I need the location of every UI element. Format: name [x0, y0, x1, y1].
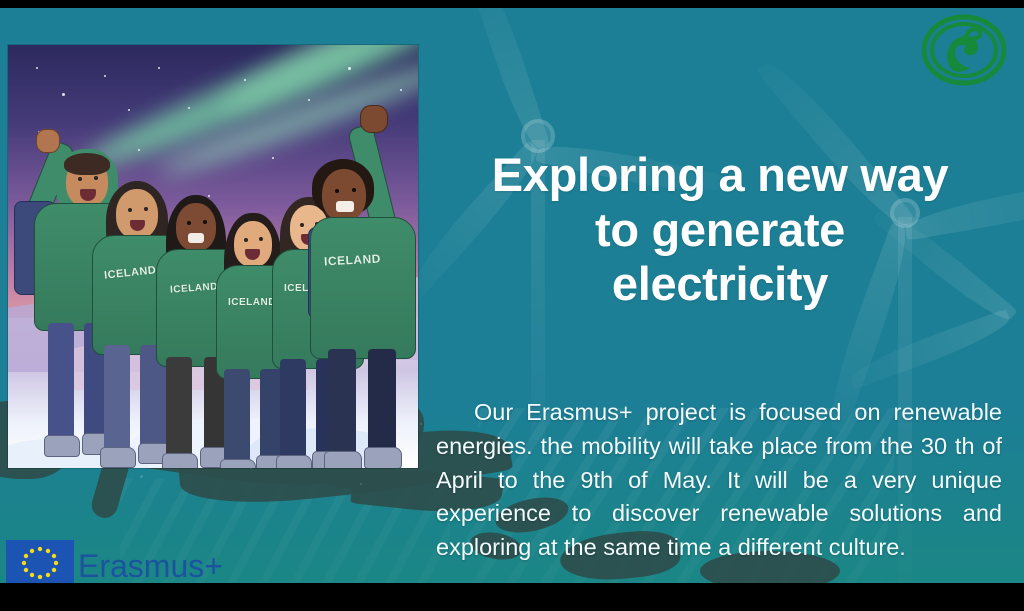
leg — [280, 359, 306, 463]
star — [104, 75, 106, 77]
leg — [368, 349, 396, 455]
boot — [364, 447, 402, 468]
slide-canvas: ICELAND ICELAND — [0, 8, 1024, 583]
letterbox-top — [0, 0, 1024, 8]
hoodie-label: ICELAND — [228, 297, 276, 308]
title-line-2: to generate — [440, 203, 1000, 258]
face — [322, 169, 366, 221]
star — [400, 89, 402, 91]
green-swan-emblem-icon — [922, 14, 1006, 88]
boot — [100, 447, 136, 468]
boot — [44, 435, 80, 457]
face — [176, 203, 216, 251]
speckle — [140, 475, 143, 478]
leg — [48, 323, 74, 441]
presentation-slide: ICELAND ICELAND — [0, 0, 1024, 611]
eye — [335, 189, 339, 193]
eye — [78, 177, 82, 181]
speckle — [360, 483, 362, 485]
slide-title: Exploring a new way to generate electric… — [440, 148, 1000, 312]
eye — [144, 207, 148, 211]
eye — [300, 223, 304, 227]
erasmus-wordmark: Erasmus+ — [78, 548, 223, 583]
slide-body-text: Our Erasmus+ project is focused on renew… — [436, 396, 1002, 565]
hoodie-label: ICELAND — [324, 252, 381, 269]
boot — [162, 453, 198, 468]
illustration-image: ICELAND ICELAND — [8, 45, 418, 468]
speckle — [420, 423, 422, 425]
title-line-1: Exploring a new way — [440, 148, 1000, 203]
star — [128, 109, 130, 111]
leg — [166, 357, 192, 461]
face — [234, 221, 272, 267]
jacket — [310, 217, 416, 359]
boot — [324, 451, 362, 468]
star — [188, 107, 190, 109]
star — [138, 149, 140, 151]
eye — [352, 188, 356, 192]
star — [158, 67, 160, 69]
star — [308, 99, 310, 101]
star — [36, 67, 38, 69]
raised-fist — [36, 129, 60, 153]
erasmus-plus-logo: Erasmus+ — [6, 540, 218, 583]
star — [348, 67, 351, 70]
hair — [64, 153, 110, 175]
eye — [94, 176, 98, 180]
star — [244, 79, 246, 81]
boot — [220, 459, 256, 468]
leg — [104, 345, 130, 453]
eye — [187, 221, 191, 225]
eye — [128, 208, 132, 212]
star — [208, 195, 210, 197]
boot — [276, 455, 312, 468]
leg — [328, 349, 356, 459]
mouth — [336, 201, 354, 212]
title-line-3: electricity — [440, 257, 1000, 312]
eye — [244, 238, 248, 242]
star — [62, 93, 65, 96]
eye — [259, 237, 263, 241]
leg — [224, 369, 250, 467]
star — [272, 157, 274, 159]
face — [116, 189, 158, 239]
eye — [203, 220, 207, 224]
eu-flag-icon — [6, 540, 74, 583]
raised-fist — [360, 105, 388, 133]
letterbox-bottom — [0, 583, 1024, 611]
mouth — [188, 233, 204, 243]
